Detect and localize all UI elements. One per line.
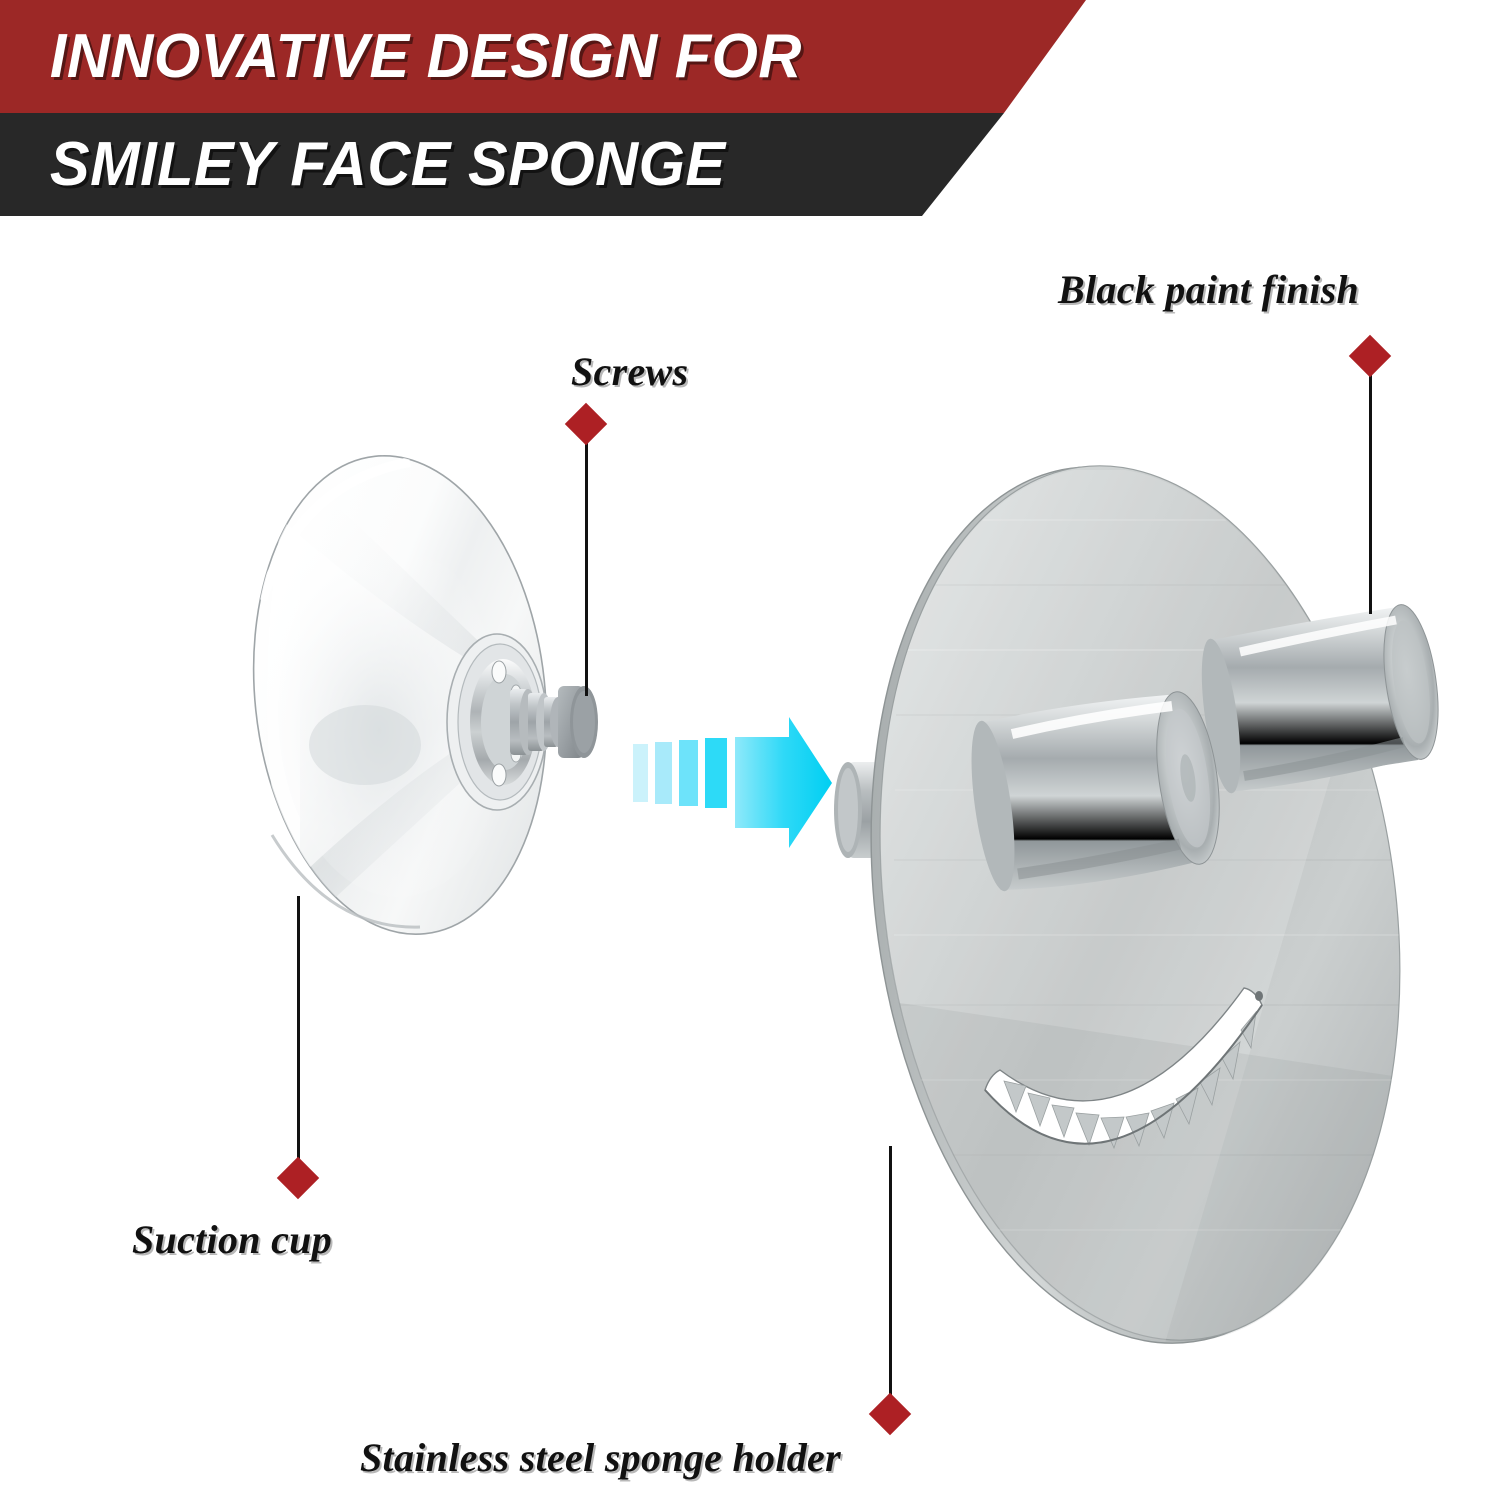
mouth-tip-dot	[1255, 991, 1263, 1001]
header-line-2: SMILEY FACE SPONGE	[0, 134, 726, 196]
header-banner: INNOVATIVE DESIGN FOR SMILEY FACE SPONGE	[0, 0, 1120, 216]
leader-line-holder	[889, 1146, 892, 1404]
suction-cup-soft-spot	[309, 705, 421, 785]
hook-lower	[963, 688, 1229, 894]
arrow-dash	[655, 742, 672, 804]
callout-label-black-paint: Black paint finish	[1058, 266, 1359, 313]
callout-label-suction-cup: Suction cup	[132, 1216, 332, 1263]
suction-cup-group	[231, 441, 598, 949]
arrow-dash	[633, 744, 648, 802]
header-band-red: INNOVATIVE DESIGN FOR	[0, 0, 1086, 113]
arrow-dash	[705, 738, 727, 808]
header-line-1: INNOVATIVE DESIGN FOR	[0, 26, 802, 88]
callout-label-screws: Screws	[571, 348, 688, 395]
infographic-canvas: INNOVATIVE DESIGN FOR SMILEY FACE SPONGE…	[0, 0, 1486, 1500]
product-illustration	[0, 0, 1486, 1500]
assembly-direction-arrow	[633, 717, 832, 848]
leader-line-suction-cup	[297, 896, 300, 1164]
leader-line-black-paint	[1369, 372, 1372, 614]
arrow-dash	[679, 740, 698, 806]
flange-hole	[492, 764, 506, 786]
screw-stud	[510, 686, 598, 758]
stainless-steel-disc-group	[817, 432, 1454, 1378]
leader-line-screws	[585, 440, 588, 696]
flange-hole	[492, 661, 506, 683]
header-band-black: SMILEY FACE SPONGE	[0, 113, 1004, 216]
callout-label-holder: Stainless steel sponge holder	[360, 1434, 841, 1481]
arrow-head	[735, 717, 832, 848]
